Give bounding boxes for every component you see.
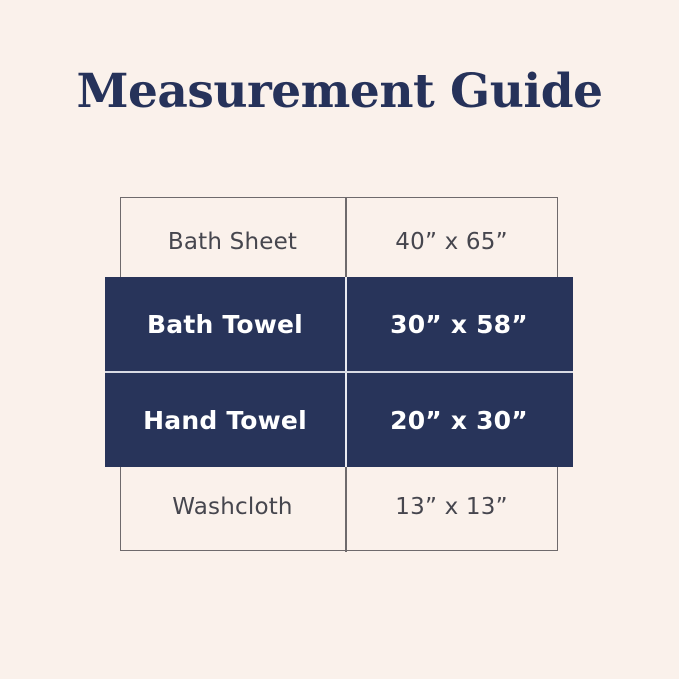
product-name-cell: Bath Towel xyxy=(105,277,345,371)
product-dimensions-cell: 13” x 13” xyxy=(345,463,558,551)
product-name-cell: Washcloth xyxy=(120,463,345,551)
table-row: Washcloth 13” x 13” xyxy=(120,463,558,551)
highlight-column-divider xyxy=(345,277,347,371)
measurement-guide-page: Measurement Guide Bath Sheet 40” x 65” B… xyxy=(0,0,679,679)
highlight-column-divider xyxy=(345,373,347,467)
table-row-highlighted: Bath Towel 30” x 58” xyxy=(105,277,573,371)
product-dimensions-cell: 30” x 58” xyxy=(345,277,573,371)
table-row-highlighted: Hand Towel 20” x 30” xyxy=(105,373,573,467)
product-name-cell: Hand Towel xyxy=(105,373,345,467)
page-title: Measurement Guide xyxy=(0,62,679,122)
table-row: Bath Sheet 40” x 65” xyxy=(120,198,558,286)
product-dimensions-cell: 20” x 30” xyxy=(345,373,573,467)
product-dimensions-cell: 40” x 65” xyxy=(345,198,558,286)
product-name-cell: Bath Sheet xyxy=(120,198,345,286)
